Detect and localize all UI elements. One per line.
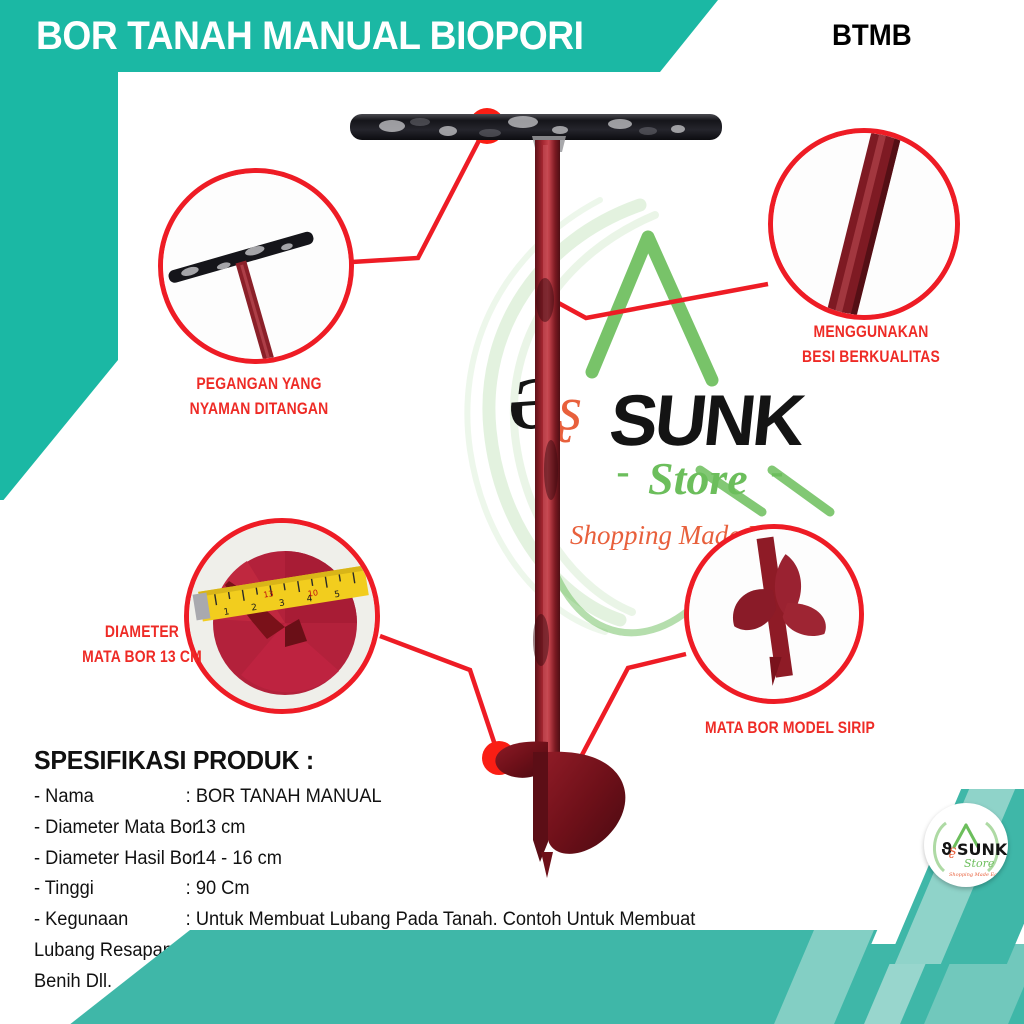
- callout-steel-line1: MENGGUNAKAN: [795, 320, 948, 345]
- diameter-measure-photo: 12 34 5 1310: [189, 523, 375, 709]
- callout-bit-line1: MATA BOR MODEL SIRIP: [683, 716, 896, 741]
- svg-text:13: 13: [263, 589, 274, 599]
- callout-steel-line2: BESI BERKUALITAS: [795, 345, 948, 370]
- steel-shaft-closeup-photo: [773, 133, 955, 315]
- page-title: BOR TANAH MANUAL BIOPORI: [36, 14, 584, 59]
- banner-stripe: [738, 910, 883, 1024]
- teal-left-decoration: [0, 0, 118, 500]
- watermark-wordmark: Ə ʂ SUNK Store - - Shopping Made Easy: [508, 352, 868, 472]
- callout-label-handle: PEGANGAN YANG NYAMAN DITANGAN: [173, 372, 345, 421]
- spec-label: - Diameter Mata Bor: [34, 813, 186, 844]
- handle-closeup-photo: [163, 173, 349, 359]
- infographic-canvas: BOR TANAH MANUAL BIOPORI BTMB Ə ʂ SUNK S…: [0, 0, 1024, 1024]
- spec-value: : 14 - 16 cm: [186, 848, 282, 869]
- callout-circle-diameter: 12 34 5 1310: [184, 518, 380, 714]
- callout-diameter-line2: MATA BOR 13 CM: [60, 645, 224, 670]
- callout-label-diameter: DIAMETER MATA BOR 13 CM: [60, 620, 224, 669]
- spec-label: - Nama: [34, 782, 186, 813]
- bottom-banner: [0, 900, 1024, 1024]
- callout-diameter-line1: DIAMETER: [60, 620, 224, 645]
- brand-badge: ϑ ʂ SUNK Store Shopping Made Easy: [924, 803, 1008, 887]
- brand-badge-logo: ϑ ʂ SUNK Store Shopping Made Easy: [924, 803, 1008, 887]
- watermark-store: Store: [648, 452, 748, 505]
- spec-row: - Diameter Mata Bor: 13 cm: [34, 813, 629, 844]
- bottom-banner-shape: [0, 930, 1024, 1024]
- spec-value: : 90 Cm: [186, 878, 250, 899]
- callout-circle-handle: [158, 168, 354, 364]
- svg-text:ʂ: ʂ: [949, 843, 956, 859]
- svg-text:10: 10: [307, 588, 318, 598]
- callout-handle-line2: NYAMAN DITANGAN: [173, 397, 345, 422]
- drill-bit-closeup-photo: [689, 529, 859, 699]
- callout-circle-bit: [684, 524, 864, 704]
- callout-label-steel: MENGGUNAKAN BESI BERKUALITAS: [795, 320, 948, 369]
- spec-label: - Diameter Hasil Bor: [34, 844, 186, 875]
- spec-value: : BOR TANAH MANUAL: [186, 786, 382, 807]
- spec-row: - Diameter Hasil Bor: 14 - 16 cm: [34, 844, 629, 875]
- brand-badge-area: ϑ ʂ SUNK Store Shopping Made Easy: [884, 789, 1024, 964]
- spec-row: - Nama: BOR TANAH MANUAL: [34, 782, 629, 813]
- callout-circle-steel: [768, 128, 960, 320]
- badge-store: Store: [964, 857, 995, 870]
- spec-value: : 13 cm: [186, 817, 246, 838]
- callout-handle-line1: PEGANGAN YANG: [173, 372, 345, 397]
- product-code: BTMB: [832, 19, 912, 53]
- callout-label-bit: MATA BOR MODEL SIRIP: [683, 716, 896, 741]
- spec-title: SPESIFIKASI PRODUK :: [34, 745, 629, 776]
- header-banner: BOR TANAH MANUAL BIOPORI: [0, 0, 718, 72]
